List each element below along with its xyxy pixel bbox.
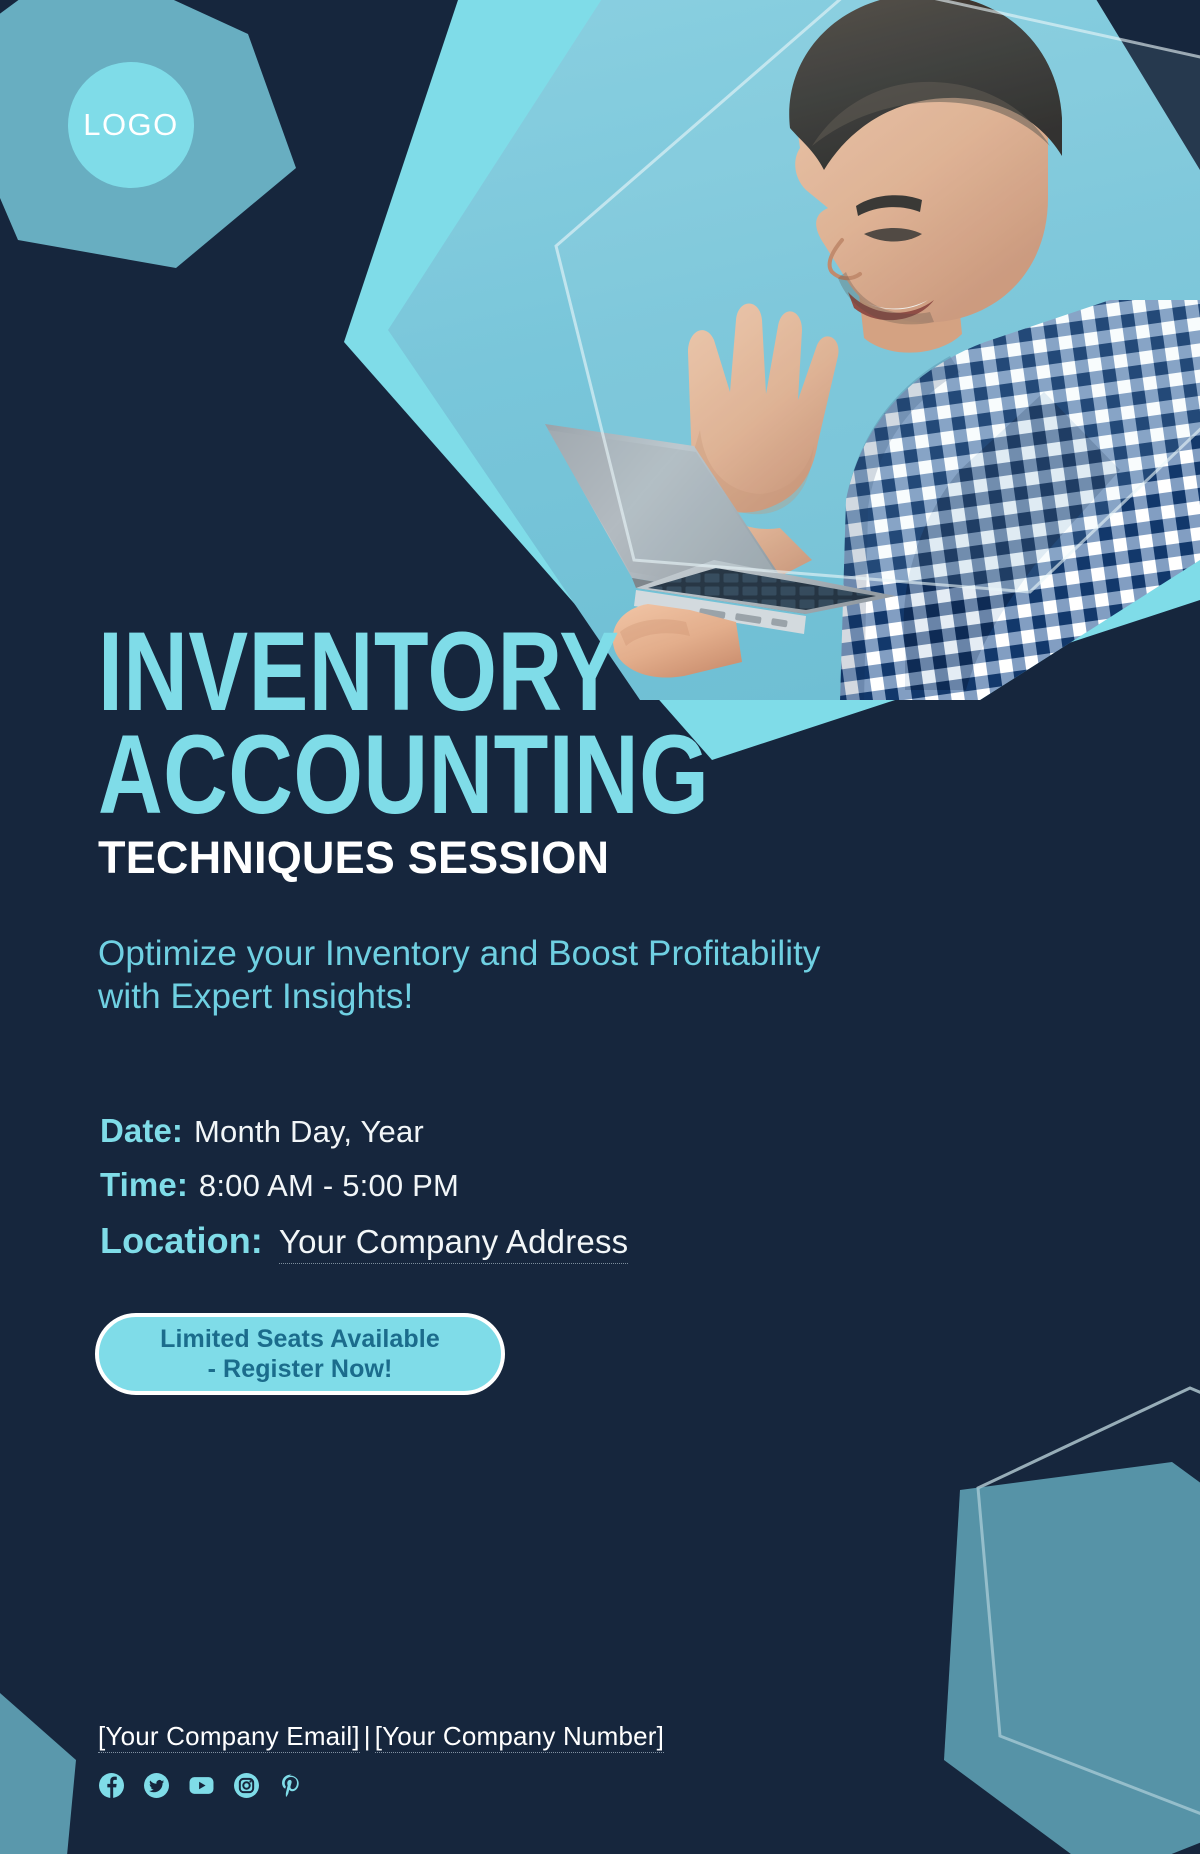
contact-separator: | bbox=[360, 1721, 375, 1751]
facebook-icon[interactable] bbox=[99, 1773, 124, 1798]
register-button-label: Limited Seats Available - Register Now! bbox=[160, 1324, 440, 1385]
detail-value-date: Month Day, Year bbox=[194, 1114, 424, 1150]
register-button-line-2: - Register Now! bbox=[160, 1354, 440, 1385]
poster-canvas: LOGO INVENTORY ACCOUNTING TECHNIQUES SES… bbox=[0, 0, 1200, 1854]
event-details: Date: Month Day, Year Time: 8:00 AM - 5:… bbox=[100, 1112, 900, 1264]
twitter-icon[interactable] bbox=[144, 1773, 169, 1798]
poster-content: INVENTORY ACCOUNTING TECHNIQUES SESSION … bbox=[0, 0, 1200, 1854]
detail-value-location: Your Company Address bbox=[279, 1223, 629, 1264]
detail-row-date: Date: Month Day, Year bbox=[100, 1112, 900, 1150]
tagline-line-2: with Expert Insights! bbox=[98, 976, 998, 1019]
tagline-line-1: Optimize your Inventory and Boost Profit… bbox=[98, 933, 998, 976]
detail-label-time: Time: bbox=[100, 1166, 188, 1204]
register-button-line-1: Limited Seats Available bbox=[160, 1324, 440, 1355]
detail-label-location: Location: bbox=[100, 1220, 263, 1262]
detail-row-location: Location: Your Company Address bbox=[100, 1220, 900, 1264]
title-line-1: INVENTORY bbox=[98, 620, 898, 723]
contact-phone[interactable]: [Your Company Number] bbox=[375, 1721, 664, 1753]
detail-row-time: Time: 8:00 AM - 5:00 PM bbox=[100, 1166, 900, 1204]
title-line-2: ACCOUNTING bbox=[98, 723, 898, 826]
contact-email[interactable]: [Your Company Email] bbox=[98, 1721, 360, 1753]
register-button[interactable]: Limited Seats Available - Register Now! bbox=[95, 1313, 505, 1395]
footer-contact: [Your Company Email]|[Your Company Numbe… bbox=[98, 1721, 664, 1752]
detail-value-time: 8:00 AM - 5:00 PM bbox=[199, 1168, 459, 1204]
youtube-icon[interactable] bbox=[189, 1773, 214, 1798]
tagline: Optimize your Inventory and Boost Profit… bbox=[98, 933, 998, 1018]
pinterest-icon[interactable] bbox=[279, 1773, 304, 1798]
title-subtitle: TECHNIQUES SESSION bbox=[98, 834, 1098, 881]
instagram-icon[interactable] bbox=[234, 1773, 259, 1798]
detail-label-date: Date: bbox=[100, 1112, 183, 1150]
page-title: INVENTORY ACCOUNTING TECHNIQUES SESSION bbox=[98, 620, 1098, 881]
social-links bbox=[99, 1773, 304, 1798]
